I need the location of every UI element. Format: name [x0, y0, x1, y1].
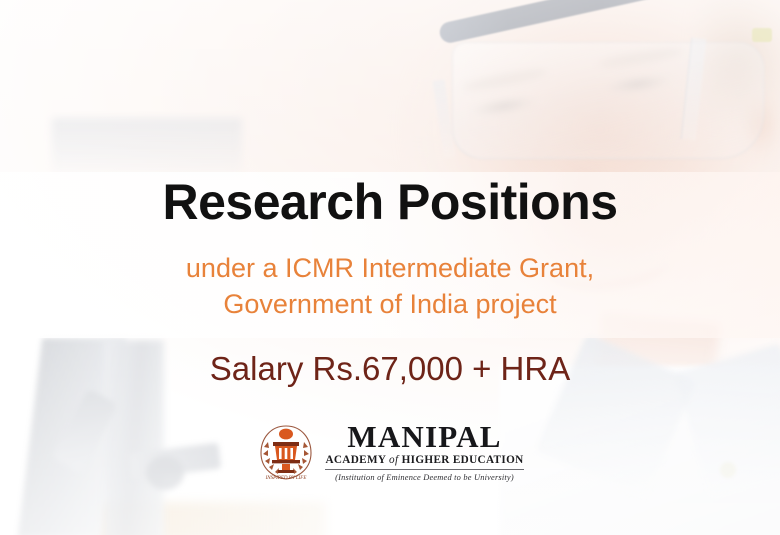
manipal-academy-of: of [389, 454, 398, 466]
salary-text: Salary Rs.67,000 + HRA [0, 352, 780, 385]
manipal-name: MANIPAL [347, 421, 501, 452]
page-title: Research Positions [0, 177, 780, 227]
poster-subtitle-line-1: under a ICMR Intermediate Grant, [0, 250, 780, 286]
poster-content: Research Positions under a ICMR Intermed… [0, 0, 780, 535]
manipal-academy-suffix: HIGHER EDUCATION [402, 454, 524, 466]
manipal-crest-icon: INSPIRED BY LIFE [256, 421, 316, 483]
manipal-logo: INSPIRED BY LIFE MANIPAL ACADEMY of HIGH… [0, 421, 780, 483]
manipal-tagline: (Institution of Eminence Deemed to be Un… [335, 474, 514, 482]
manipal-wordmark: MANIPAL ACADEMY of HIGHER EDUCATION (Ins… [325, 421, 523, 483]
poster-subtitle-line-2: Government of India project [0, 286, 780, 322]
svg-text:INSPIRED BY LIFE: INSPIRED BY LIFE [265, 476, 307, 481]
poster: Research Positions under a ICMR Intermed… [0, 0, 780, 535]
manipal-academy-line: ACADEMY of HIGHER EDUCATION [325, 455, 523, 470]
poster-subtitle: under a ICMR Intermediate Grant, Governm… [0, 250, 780, 322]
manipal-academy-prefix: ACADEMY [325, 454, 385, 466]
